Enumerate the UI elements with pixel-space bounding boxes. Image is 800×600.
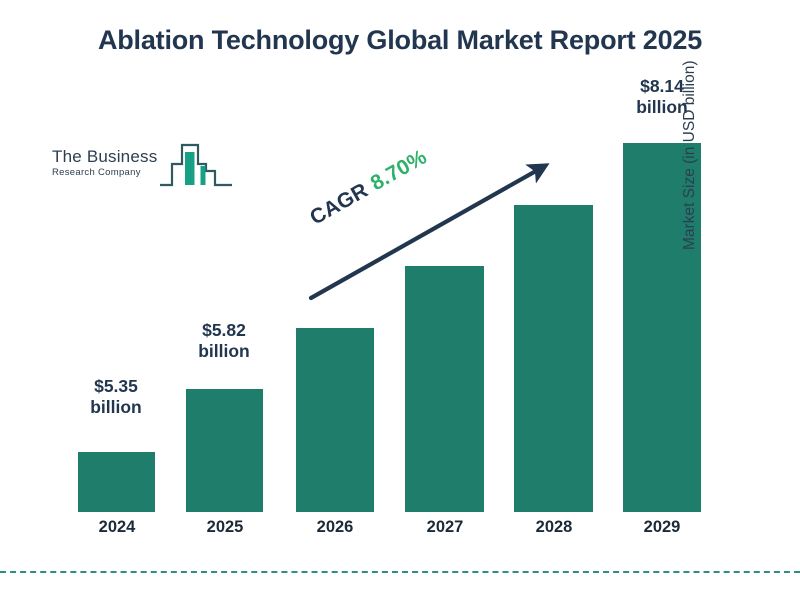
bar-value-label-2024-line2: billion <box>60 397 172 418</box>
x-tick-2027: 2027 <box>390 518 500 537</box>
x-tick-2029: 2029 <box>607 518 717 537</box>
bar-2025 <box>186 389 263 512</box>
bottom-divider <box>0 571 800 573</box>
chart-canvas: Ablation Technology Global Market Report… <box>0 0 800 600</box>
x-tick-2028: 2028 <box>499 518 609 537</box>
cagr-label: CAGR <box>306 179 372 230</box>
bar-2024 <box>78 452 155 512</box>
bar-chart-plot-area: $5.35 billion $5.82 billion $8.14 billio… <box>0 0 800 600</box>
x-tick-2025: 2025 <box>170 518 280 537</box>
bar-value-label-2029-line2: billion <box>606 97 718 118</box>
bar-value-label-2025: $5.82 billion <box>168 320 280 363</box>
bar-value-label-2029-line1: $8.14 <box>606 76 718 97</box>
bar-2027 <box>405 266 484 512</box>
bar-2026 <box>296 328 374 512</box>
cagr-annotation: CAGR8.70% <box>306 145 431 230</box>
bar-value-label-2024: $5.35 billion <box>60 376 172 419</box>
y-axis-title: Market Size (in USD billion) <box>681 0 699 250</box>
bar-value-label-2025-line1: $5.82 <box>168 320 280 341</box>
cagr-value: 8.70% <box>367 145 431 195</box>
bar-value-label-2024-line1: $5.35 <box>60 376 172 397</box>
x-tick-2024: 2024 <box>62 518 172 537</box>
bar-value-label-2029: $8.14 billion <box>606 76 718 119</box>
bar-value-label-2025-line2: billion <box>168 341 280 362</box>
bar-2028 <box>514 205 593 512</box>
x-tick-2026: 2026 <box>280 518 390 537</box>
